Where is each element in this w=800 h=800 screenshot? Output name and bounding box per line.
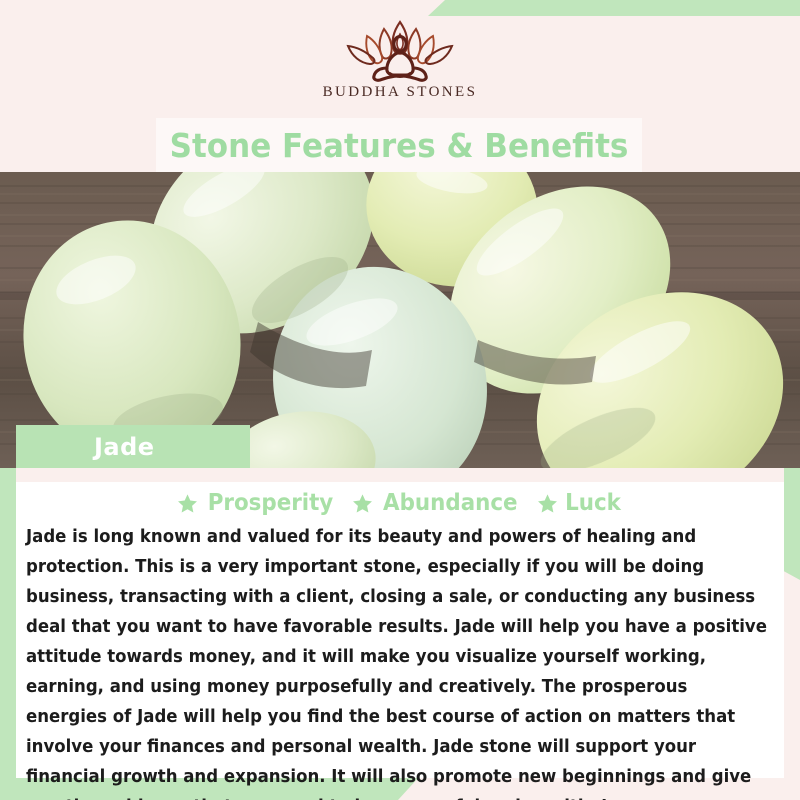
stone-photo	[0, 172, 800, 468]
benefit-label: Luck	[565, 490, 621, 516]
star-icon	[177, 493, 198, 514]
content-inner: Prosperity Abundance Luck Jade is long k…	[16, 482, 784, 778]
stone-name-banner: Jade	[16, 425, 250, 468]
benefit-item: Abundance	[352, 490, 523, 516]
benefit-item: Luck	[537, 490, 623, 516]
benefit-label: Abundance	[383, 490, 517, 516]
poster: BUDDHA STONES Stone Features & Benefits	[0, 0, 800, 800]
page-title: Stone Features & Benefits	[170, 126, 629, 165]
benefits-list: Prosperity Abundance Luck	[22, 486, 778, 520]
benefit-label: Prosperity	[208, 490, 334, 516]
stone-photo-image	[0, 172, 800, 468]
star-icon	[537, 493, 558, 514]
title-banner: Stone Features & Benefits	[156, 118, 642, 172]
star-icon	[352, 493, 373, 514]
stone-name: Jade	[94, 433, 155, 461]
lotus-meditation-icon	[326, 16, 474, 82]
stone-description: Jade is long known and valued for its be…	[26, 522, 773, 800]
content-panel: Prosperity Abundance Luck Jade is long k…	[16, 468, 784, 778]
brand-header: BUDDHA STONES	[0, 0, 800, 118]
brand-name: BUDDHA STONES	[323, 84, 478, 101]
benefit-item: Prosperity	[177, 490, 338, 516]
